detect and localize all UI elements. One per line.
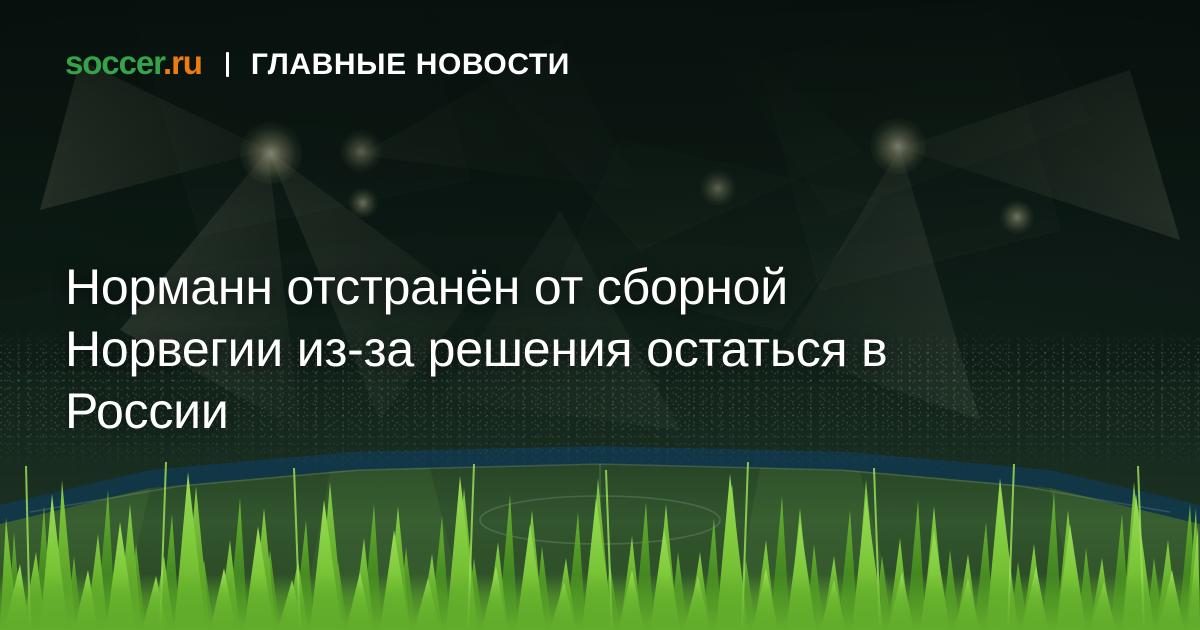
foreground-grass [0, 460, 1200, 630]
floodlight-lamp [870, 118, 926, 174]
card-header: soccer.ru ГЛАВНЫЕ НОВОСТИ [65, 46, 570, 80]
headline-line: России [65, 380, 1100, 442]
logo-word: soccer [65, 44, 163, 81]
header-divider [226, 52, 229, 77]
news-share-card: soccer.ru ГЛАВНЫЕ НОВОСТИ Норманн отстра… [0, 0, 1200, 630]
logo-tld: .ru [163, 44, 202, 81]
grass-base [0, 574, 1200, 630]
floodlight-lamp [348, 188, 378, 218]
floodlight-lamp [340, 130, 382, 172]
floodlight-lamp [1000, 200, 1034, 234]
headline-line: Норманн отстранён от сборной [65, 256, 1100, 318]
header-kicker: ГЛАВНЫЕ НОВОСТИ [251, 50, 570, 80]
page-title: Норманн отстранён от сборной Норвегии из… [65, 256, 1100, 442]
floodlight-lamp [700, 170, 736, 206]
headline-line: Норвегии из-за решения остаться в [65, 318, 1100, 380]
soccer-ru-logo[interactable]: soccer.ru [65, 46, 202, 79]
floodlight-lamp [240, 122, 302, 184]
